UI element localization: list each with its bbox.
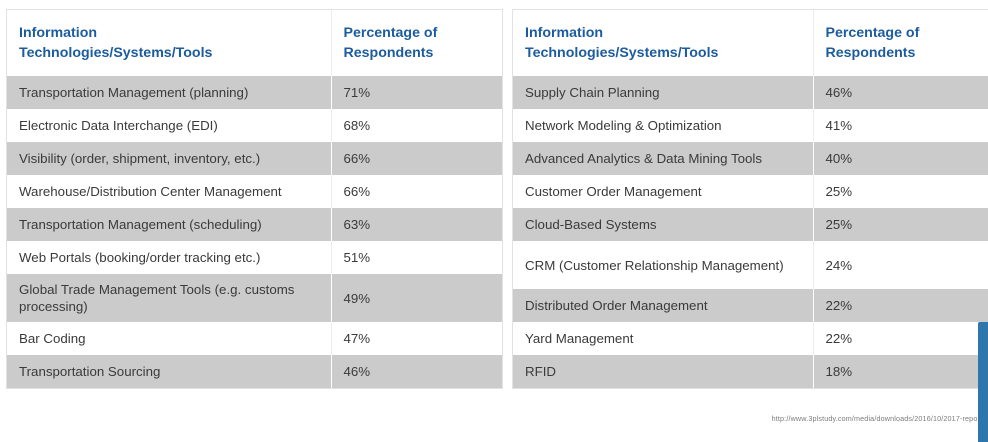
- row-label: Advanced Analytics & Data Mining Tools: [513, 142, 813, 175]
- table-row: Warehouse/Distribution Center Management…: [7, 175, 502, 208]
- table-row: Distributed Order Management 22%: [513, 289, 988, 322]
- header-line-2: Respondents: [826, 45, 916, 61]
- table-row: Customer Order Management 25%: [513, 175, 988, 208]
- table-header-row: Information Technologies/Systems/Tools P…: [7, 10, 502, 76]
- row-label: Global Trade Management Tools (e.g. cust…: [7, 274, 331, 322]
- row-label: Yard Management: [513, 322, 813, 355]
- tables-container: Information Technologies/Systems/Tools P…: [0, 0, 988, 442]
- row-label: Web Portals (booking/order tracking etc.…: [7, 241, 331, 274]
- column-header-technologies: Information Technologies/Systems/Tools: [513, 10, 813, 76]
- table-row: Global Trade Management Tools (e.g. cust…: [7, 274, 502, 322]
- row-label: Transportation Management (scheduling): [7, 208, 331, 241]
- table-row: Electronic Data Interchange (EDI) 68%: [7, 109, 502, 142]
- header-line-2: Technologies/Systems/Tools: [19, 45, 212, 61]
- table-row: Transportation Management (planning) 71%: [7, 76, 502, 109]
- header-line-1: Percentage of: [344, 25, 438, 41]
- row-percentage: 18%: [813, 355, 988, 388]
- row-percentage: 47%: [331, 322, 502, 355]
- row-label: Transportation Management (planning): [7, 76, 331, 109]
- vertical-scrollbar-thumb[interactable]: [978, 322, 988, 442]
- row-percentage: 66%: [331, 175, 502, 208]
- row-percentage: 24%: [813, 241, 988, 289]
- table-row: Advanced Analytics & Data Mining Tools 4…: [513, 142, 988, 175]
- row-label: RFID: [513, 355, 813, 388]
- header-line-1: Percentage of: [826, 25, 920, 41]
- column-header-percentage: Percentage of Respondents: [813, 10, 988, 76]
- column-header-technologies: Information Technologies/Systems/Tools: [7, 10, 331, 76]
- row-label: Customer Order Management: [513, 175, 813, 208]
- row-percentage: 25%: [813, 175, 988, 208]
- row-percentage: 49%: [331, 274, 502, 322]
- header-line-1: Information: [525, 25, 603, 41]
- row-label: Distributed Order Management: [513, 289, 813, 322]
- row-percentage: 40%: [813, 142, 988, 175]
- row-percentage: 51%: [331, 241, 502, 274]
- right-data-table: Information Technologies/Systems/Tools P…: [512, 9, 988, 389]
- row-label: Visibility (order, shipment, inventory, …: [7, 142, 331, 175]
- row-percentage: 71%: [331, 76, 502, 109]
- header-line-2: Respondents: [344, 45, 434, 61]
- row-percentage: 46%: [331, 355, 502, 388]
- row-percentage: 46%: [813, 76, 988, 109]
- row-label: Supply Chain Planning: [513, 76, 813, 109]
- row-percentage: 68%: [331, 109, 502, 142]
- table-row: Bar Coding 47%: [7, 322, 502, 355]
- table-header-row: Information Technologies/Systems/Tools P…: [513, 10, 988, 76]
- table-row: Transportation Management (scheduling) 6…: [7, 208, 502, 241]
- row-percentage: 22%: [813, 322, 988, 355]
- row-percentage: 66%: [331, 142, 502, 175]
- row-label: Cloud-Based Systems: [513, 208, 813, 241]
- source-url-caption: http://www.3plstudy.com/media/downloads/…: [772, 414, 980, 423]
- table-row: Supply Chain Planning 46%: [513, 76, 988, 109]
- table-row: Web Portals (booking/order tracking etc.…: [7, 241, 502, 274]
- table-row: RFID 18%: [513, 355, 988, 388]
- row-percentage: 63%: [331, 208, 502, 241]
- row-label: Warehouse/Distribution Center Management: [7, 175, 331, 208]
- header-line-2: Technologies/Systems/Tools: [525, 45, 718, 61]
- row-label: Electronic Data Interchange (EDI): [7, 109, 331, 142]
- table-row: Transportation Sourcing 46%: [7, 355, 502, 388]
- row-percentage: 25%: [813, 208, 988, 241]
- left-data-table: Information Technologies/Systems/Tools P…: [6, 9, 503, 389]
- table-row: Yard Management 22%: [513, 322, 988, 355]
- row-label: Transportation Sourcing: [7, 355, 331, 388]
- row-percentage: 22%: [813, 289, 988, 322]
- table-row: CRM (Customer Relationship Management) 2…: [513, 241, 988, 289]
- table-row: Network Modeling & Optimization 41%: [513, 109, 988, 142]
- table-row: Visibility (order, shipment, inventory, …: [7, 142, 502, 175]
- table-row: Cloud-Based Systems 25%: [513, 208, 988, 241]
- header-line-1: Information: [19, 25, 97, 41]
- column-header-percentage: Percentage of Respondents: [331, 10, 502, 76]
- row-label: Bar Coding: [7, 322, 331, 355]
- row-label: Network Modeling & Optimization: [513, 109, 813, 142]
- row-percentage: 41%: [813, 109, 988, 142]
- row-label: CRM (Customer Relationship Management): [513, 241, 813, 289]
